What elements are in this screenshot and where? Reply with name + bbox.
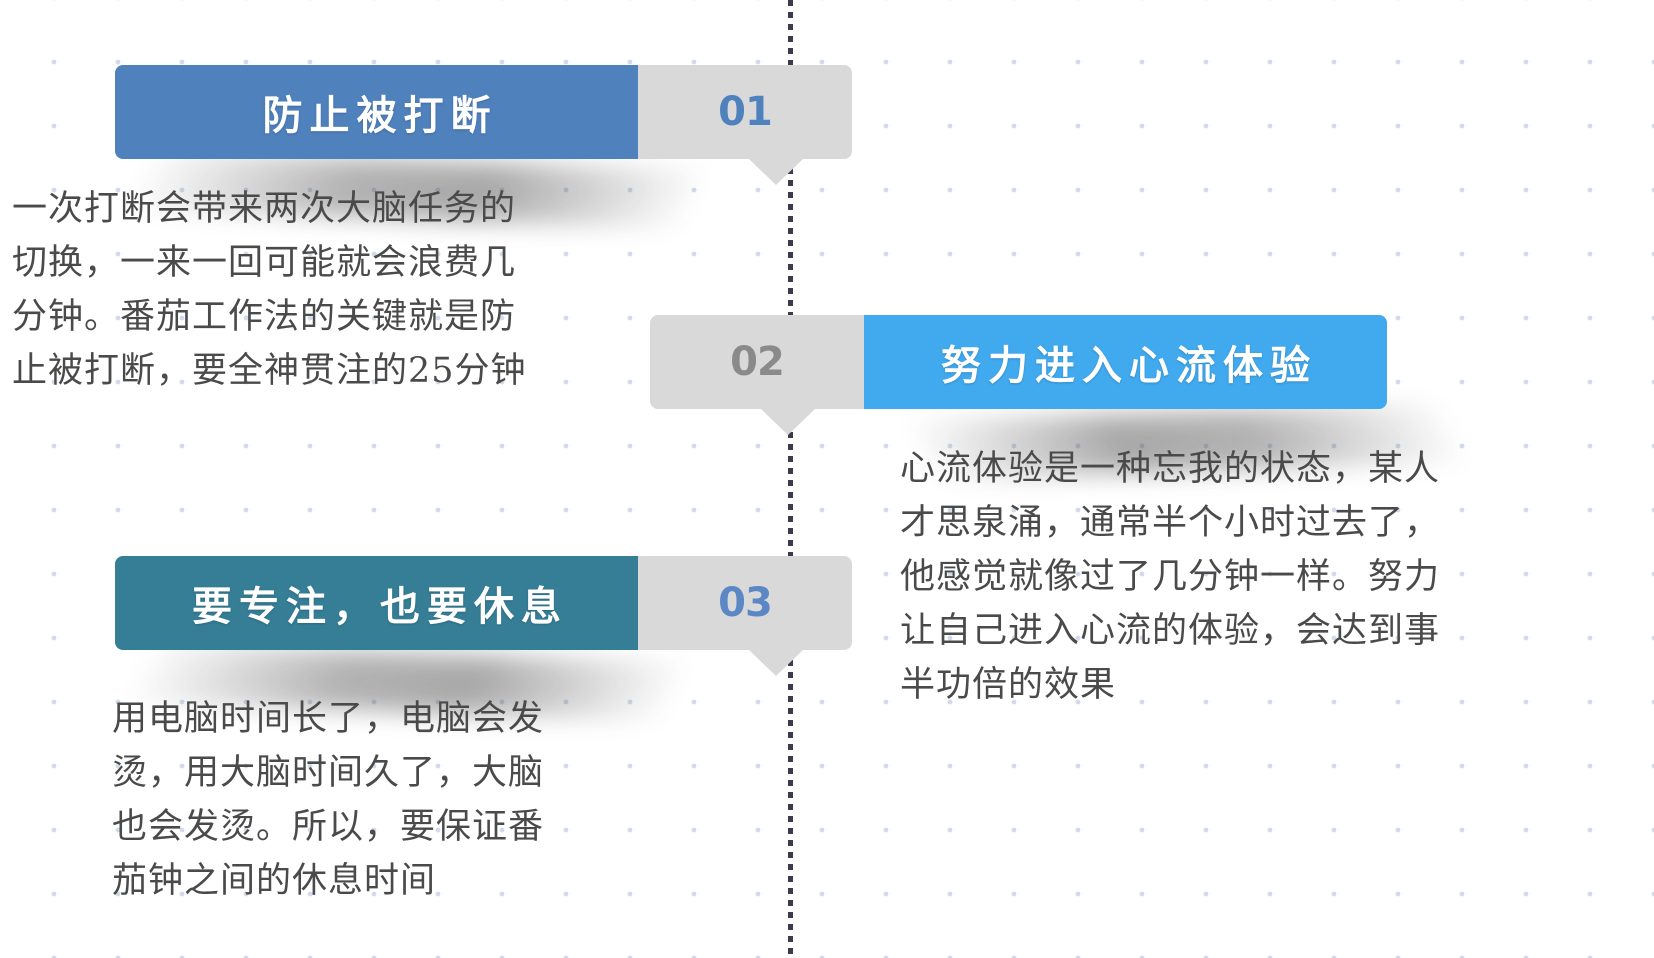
section-body-03: 用电脑时间长了，电脑会发 烫，用大脑时间久了，大脑 也会发烫。所以，要保证番 茄… bbox=[112, 692, 672, 908]
section-body-02: 心流体验是一种忘我的状态，某人 才思泉涌，通常半个小时过去了， 他感觉就像过了几… bbox=[900, 442, 1600, 712]
section-card-01[interactable]: 防止被打断 01 bbox=[115, 65, 852, 159]
section-card-03[interactable]: 要专注，也要休息 03 bbox=[115, 556, 852, 650]
section-title-02: 努力进入心流体验 bbox=[934, 333, 1317, 391]
card-tail-03 bbox=[749, 650, 803, 676]
card-tail-01 bbox=[749, 159, 803, 185]
section-number-box-01: 01 bbox=[638, 65, 852, 159]
section-body-01: 一次打断会带来两次大脑任务的 切换，一来一回可能就会浪费几 分钟。番茄工作法的关… bbox=[12, 182, 637, 398]
section-title-03: 要专注，也要休息 bbox=[185, 574, 568, 632]
card-tail-02 bbox=[761, 409, 815, 435]
section-title-01: 防止被打断 bbox=[256, 83, 498, 141]
section-title-bar-02: 努力进入心流体验 bbox=[864, 315, 1387, 409]
infographic-slide: 防止被打断 01 一次打断会带来两次大脑任务的 切换，一来一回可能就会浪费几 分… bbox=[0, 0, 1654, 958]
section-number-box-03: 03 bbox=[638, 556, 852, 650]
section-number-box-02: 02 bbox=[650, 315, 864, 409]
section-title-bar-03: 要专注，也要休息 bbox=[115, 556, 638, 650]
section-number-03: 03 bbox=[718, 580, 772, 626]
section-title-bar-01: 防止被打断 bbox=[115, 65, 638, 159]
section-card-02[interactable]: 努力进入心流体验 02 bbox=[650, 315, 1387, 409]
section-number-01: 01 bbox=[718, 89, 772, 135]
section-number-02: 02 bbox=[730, 339, 784, 385]
